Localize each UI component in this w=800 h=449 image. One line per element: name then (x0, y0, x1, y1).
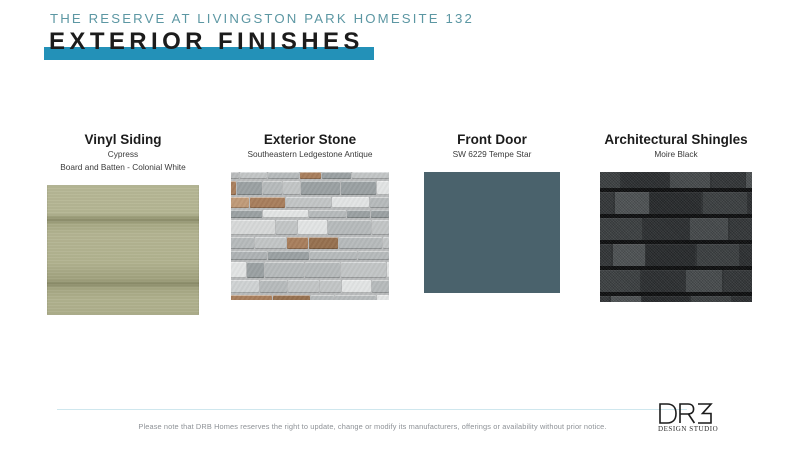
stone-unit (231, 197, 249, 208)
stone-unit (265, 262, 304, 278)
stone-unit (298, 220, 327, 235)
stone-unit (287, 237, 308, 249)
stone-unit (335, 295, 376, 300)
stone-unit (371, 210, 389, 218)
architectural-shingles-swatch (600, 172, 752, 302)
stone-unit (231, 237, 254, 249)
stone-unit (237, 181, 262, 195)
stone-unit (311, 295, 334, 300)
finish-card-subtitle-line1: Moire Black (578, 148, 774, 161)
finish-card-front-door: Front Door SW 6229 Tempe Star (404, 132, 580, 293)
stone-unit (332, 197, 369, 208)
drb-design-studio-logo: DESIGN STUDIO (657, 400, 717, 436)
stone-unit (309, 237, 338, 249)
stone-unit (231, 210, 262, 218)
finish-card-architectural-shingles: Architectural Shingles Moire Black (578, 132, 774, 302)
stone-unit (255, 237, 286, 249)
page-title: EXTERIOR FINISHES (49, 29, 364, 55)
footer-divider (57, 409, 687, 410)
stone-unit (328, 220, 371, 235)
stone-unit (273, 295, 310, 300)
finish-card-subtitle-line1: Cypress (28, 148, 218, 161)
stone-unit (372, 220, 389, 235)
finish-card-exterior-stone: Exterior Stone Southeastern Ledgestone A… (213, 132, 407, 300)
finish-selections-grid: Vinyl Siding Cypress Board and Batten - … (0, 132, 800, 332)
stone-unit (288, 280, 319, 293)
finish-card-subtitle-line1: Southeastern Ledgestone Antique (213, 148, 407, 161)
stone-unit (231, 262, 246, 278)
finish-card-subtitle-line1: SW 6229 Tempe Star (404, 148, 580, 161)
shingle-tab (642, 296, 689, 302)
finish-card-subtitle-line2: Board and Batten - Colonial White (28, 161, 218, 174)
stone-unit (341, 262, 386, 278)
shingle-tab (732, 296, 752, 302)
stone-unit (370, 197, 389, 208)
stone-unit (268, 251, 309, 260)
page-header: THE RESERVE AT LIVINGSTON PARK HOMESITE … (0, 0, 800, 78)
stone-unit (268, 172, 299, 179)
stone-unit (247, 262, 264, 278)
stone-unit (320, 280, 341, 293)
stone-unit (310, 251, 357, 260)
finish-card-title: Exterior Stone (213, 132, 407, 148)
stone-unit (231, 280, 259, 293)
stone-unit (358, 251, 389, 260)
stone-unit (341, 181, 376, 195)
stone-unit (305, 262, 340, 278)
stone-unit (342, 280, 371, 293)
stone-unit (352, 172, 389, 179)
vinyl-siding-swatch (47, 185, 199, 315)
stone-unit (283, 181, 300, 195)
stone-unit (286, 197, 331, 208)
stone-unit (263, 210, 308, 218)
stone-unit (300, 172, 321, 179)
finish-card-title: Architectural Shingles (578, 132, 774, 148)
exterior-stone-swatch (231, 172, 389, 300)
stone-unit (372, 280, 389, 293)
stone-unit (383, 237, 389, 249)
stone-unit (309, 210, 346, 218)
front-door-swatch (424, 172, 560, 293)
stone-unit (231, 172, 239, 179)
stone-unit (250, 197, 285, 208)
stone-unit (301, 181, 340, 195)
stone-unit (231, 295, 272, 300)
stone-unit (387, 262, 389, 278)
footer-disclaimer: Please note that DRB Homes reserves the … (0, 422, 745, 431)
drb-logo-subtitle: DESIGN STUDIO (658, 425, 718, 433)
stone-unit (231, 251, 267, 260)
page-title-group: EXTERIOR FINISHES (44, 29, 384, 62)
stone-unit (263, 181, 282, 195)
community-homesite-eyebrow: THE RESERVE AT LIVINGSTON PARK HOMESITE … (50, 11, 474, 26)
shingle-tab (691, 296, 731, 302)
stone-unit (231, 181, 236, 195)
stone-unit (322, 172, 351, 179)
stone-unit (377, 295, 389, 300)
finish-card-title: Vinyl Siding (28, 132, 218, 148)
shingle-tab (600, 296, 609, 302)
stone-unit (347, 210, 370, 218)
stone-unit (276, 220, 297, 235)
finish-card-title: Front Door (404, 132, 580, 148)
stone-unit (260, 280, 287, 293)
finish-card-vinyl-siding: Vinyl Siding Cypress Board and Batten - … (28, 132, 218, 315)
stone-unit (377, 181, 389, 195)
stone-unit (231, 220, 275, 235)
shingle-tab (611, 296, 641, 302)
stone-unit (339, 237, 382, 249)
stone-unit (240, 172, 267, 179)
